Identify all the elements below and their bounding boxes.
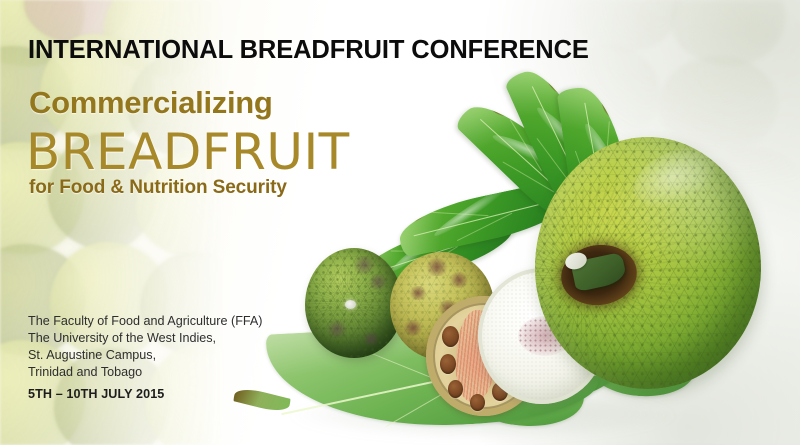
- event-dates: 5TH – 10TH JULY 2015: [28, 387, 164, 401]
- organizer-line-2: The University of the West Indies,: [28, 330, 262, 347]
- conference-poster: INTERNATIONAL BREADFRUIT CONFERENCE Comm…: [0, 0, 800, 445]
- organizer-address: The Faculty of Food and Agriculture (FFA…: [28, 313, 262, 381]
- conference-title: INTERNATIONAL BREADFRUIT CONFERENCE: [28, 36, 589, 65]
- organizer-line-4: Trinidad and Tobago: [28, 364, 262, 381]
- main-breadfruit: [535, 137, 761, 389]
- headline-commercializing: Commercializing: [29, 85, 273, 121]
- organizer-line-1: The Faculty of Food and Agriculture (FFA…: [28, 313, 262, 330]
- headline-tagline: for Food & Nutrition Security: [29, 177, 287, 199]
- headline-breadfruit: BREADFRUIT: [26, 127, 350, 177]
- organizer-line-3: St. Augustine Campus,: [28, 347, 262, 364]
- small-green-breadfruit: [305, 248, 403, 358]
